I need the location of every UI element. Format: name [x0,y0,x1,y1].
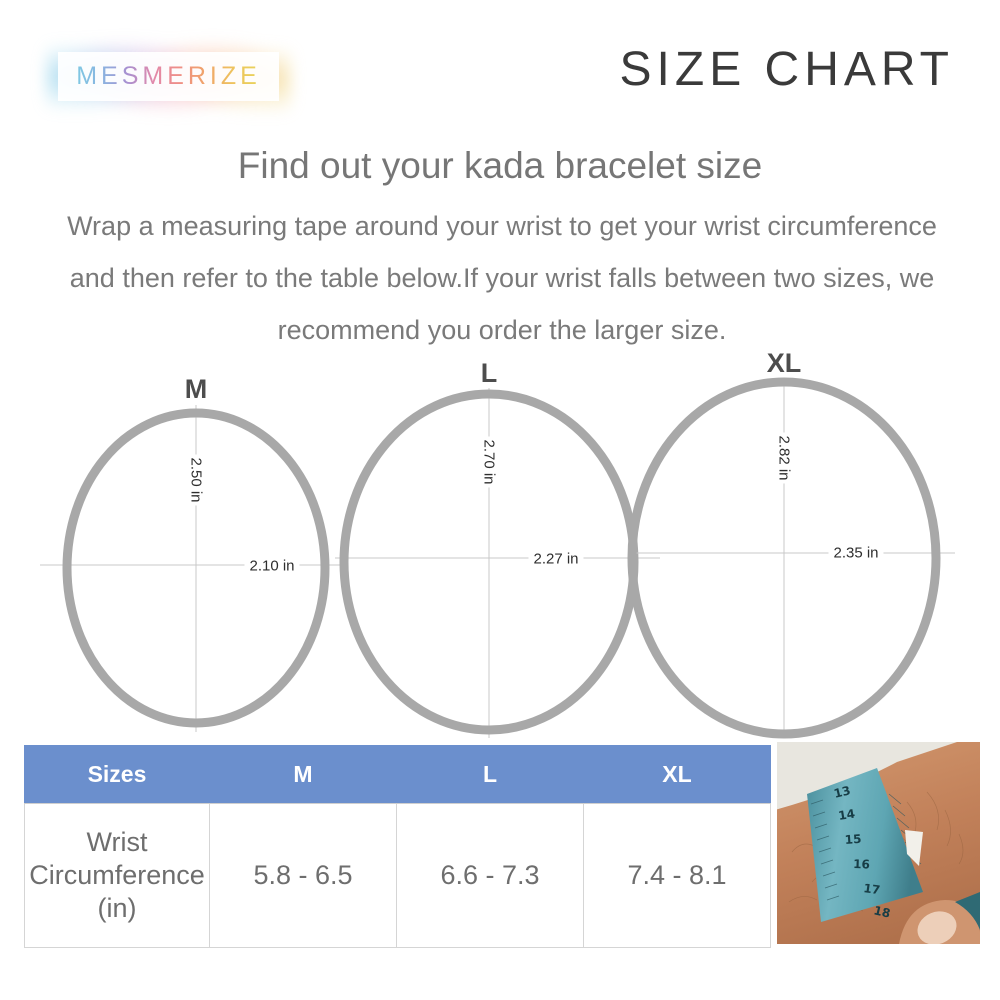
table-header-m: M [210,746,397,804]
table-row: Wrist Circumference (in) 5.8 - 6.5 6.6 -… [25,804,771,948]
wrist-measure-photo: 13 14 15 16 17 18 [777,742,980,944]
svg-text:17: 17 [863,881,881,897]
cell-wrist-xl: 7.4 - 8.1 [584,804,771,948]
size-table: Sizes M L XL Wrist Circumference (in) 5.… [24,745,771,948]
table-header-l: L [397,746,584,804]
wrist-measure-illustration: 13 14 15 16 17 18 [777,742,980,944]
svg-text:16: 16 [853,857,870,872]
headline: Find out your kada bracelet size [0,145,1000,187]
oval-xl-height-label: 2.82 in [775,432,794,483]
size-table-head: Sizes M L XL [25,746,771,804]
brand-logo: MESMERIZE [46,41,291,113]
logo-box: MESMERIZE [58,52,279,101]
intro-paragraph: Wrap a measuring tape around your wrist … [52,200,952,356]
table-header-xl: XL [584,746,771,804]
logo-text: MESMERIZE [76,62,261,91]
oval-label-l: L [481,358,498,389]
oval-xl-width-label: 2.35 in [828,544,883,563]
oval-label-m: M [185,374,208,405]
oval-l-width-label: 2.27 in [528,550,583,569]
cell-wrist-l: 6.6 - 7.3 [397,804,584,948]
oval-m-width-label: 2.10 in [244,557,299,576]
row-label-wrist-circumference: Wrist Circumference (in) [25,804,210,948]
oval-m-height-label: 2.50 in [187,454,206,505]
size-chart-page: MESMERIZE SIZE CHART Find out your kada … [0,0,1000,1000]
page-title: SIZE CHART [620,42,954,97]
svg-text:14: 14 [837,807,856,823]
table-header-row: Sizes M L XL [25,746,771,804]
svg-text:15: 15 [844,832,862,847]
cell-wrist-m: 5.8 - 6.5 [210,804,397,948]
table-header-sizes: Sizes [25,746,210,804]
oval-diagram: M L XL 2.50 in 2.70 in 2.82 in 2.10 in 2… [0,360,1000,740]
oval-label-xl: XL [767,348,802,379]
size-table-body: Wrist Circumference (in) 5.8 - 6.5 6.6 -… [25,804,771,948]
oval-l-height-label: 2.70 in [480,436,499,487]
